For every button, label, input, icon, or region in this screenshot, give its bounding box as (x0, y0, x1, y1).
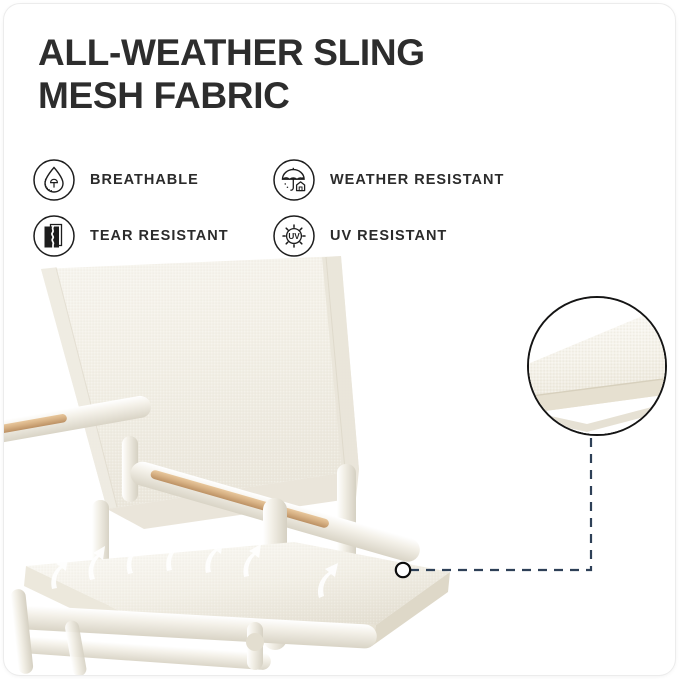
feature-label-tear-resistant: TEAR RESISTANT (90, 228, 229, 244)
feature-label-uv-resistant: UV RESISTANT (330, 228, 447, 244)
page-title: ALL-WEATHER SLING MESH FABRIC (38, 32, 618, 118)
infographic-canvas: ALL-WEATHER SLING MESH FABRIC (0, 0, 679, 679)
feature-list: BREATHABLE (32, 152, 632, 264)
feature-item-breathable: BREATHABLE (32, 158, 272, 202)
uv-icon-text: UV (288, 232, 300, 241)
umbrella-house-icon (272, 158, 316, 202)
droplet-plant-icon (32, 158, 76, 202)
feature-label-weather-resistant: WEATHER RESISTANT (330, 172, 504, 188)
fabric-zoom-callout (527, 296, 667, 436)
feature-item-weather-resistant: WEATHER RESISTANT (272, 158, 632, 202)
product-info-card: ALL-WEATHER SLING MESH FABRIC (4, 4, 675, 675)
feature-label-breathable: BREATHABLE (90, 172, 199, 188)
